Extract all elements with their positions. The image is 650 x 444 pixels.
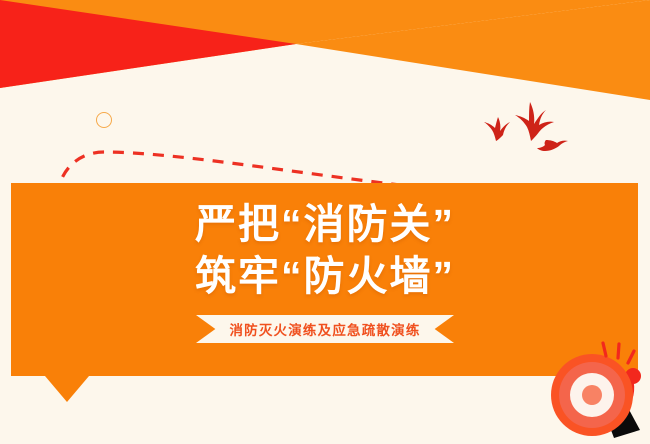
bird-large — [515, 102, 554, 141]
title-line-2: 筑牢“防火墙” — [0, 250, 650, 302]
bird-group — [484, 102, 568, 151]
bird-small-right — [537, 140, 568, 151]
spark-line-2 — [618, 344, 619, 358]
bird-small-left — [484, 117, 510, 141]
bell-core-dot — [582, 385, 602, 405]
banner-pointer-tail — [45, 376, 89, 402]
spark-line-1 — [603, 343, 606, 356]
alarm-bell-icon — [548, 338, 650, 444]
poster-canvas: 严把“消防关” 筑牢“防火墙” 消防灭火演练及应急疏散演练 — [0, 0, 650, 444]
spark-line-3 — [628, 351, 634, 363]
page-title: 严把“消防关” 筑牢“防火墙” — [0, 198, 650, 302]
subtitle-ribbon: 消防灭火演练及应急疏散演练 — [196, 315, 454, 343]
title-line-1: 严把“消防关” — [0, 198, 650, 250]
subtitle-ribbon-text: 消防灭火演练及应急疏散演练 — [229, 319, 420, 339]
